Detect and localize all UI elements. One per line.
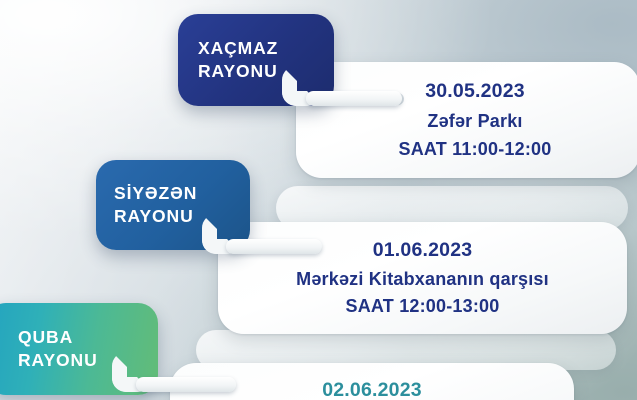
poster-canvas: 30.05.2023 Zəfər Parkı SAAT 11:00-12:00 … xyxy=(0,0,637,400)
region-badge-label-line1: SİYƏZƏN xyxy=(114,182,250,205)
event-card-quba: 02.06.2023 xyxy=(170,363,574,400)
region-badge-label-line2: RAYONU xyxy=(114,205,250,228)
region-badge-label-line1: XAÇMAZ xyxy=(198,37,334,60)
region-badge-label-line2: RAYONU xyxy=(18,349,158,372)
region-badge-quba: QUBA RAYONU xyxy=(0,303,158,395)
event-place: Zəfər Parkı xyxy=(427,111,522,132)
region-badge-label-line1: QUBA xyxy=(18,326,158,349)
event-card-xacmaz: 30.05.2023 Zəfər Parkı SAAT 11:00-12:00 xyxy=(296,62,637,178)
event-date: 02.06.2023 xyxy=(322,379,422,400)
region-badge-label-line2: RAYONU xyxy=(198,60,334,83)
event-card-siyezen: 01.06.2023 Mərkəzi Kitabxananın qarşısı … xyxy=(218,222,627,334)
region-badge-siyezen: SİYƏZƏN RAYONU xyxy=(96,160,250,250)
event-date: 01.06.2023 xyxy=(373,239,473,262)
event-time: SAAT 12:00-13:00 xyxy=(346,296,500,317)
event-date: 30.05.2023 xyxy=(425,80,525,103)
region-badge-xacmaz: XAÇMAZ RAYONU xyxy=(178,14,334,106)
event-time: SAAT 11:00-12:00 xyxy=(399,139,552,160)
event-place: Mərkəzi Kitabxananın qarşısı xyxy=(296,269,549,290)
